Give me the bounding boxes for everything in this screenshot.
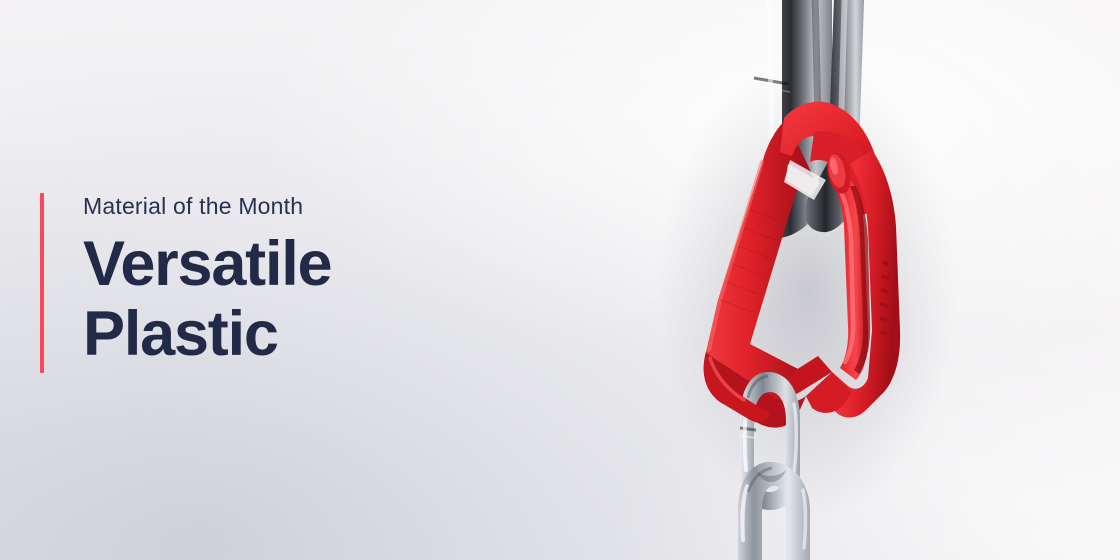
material-of-the-month-banner: Material of the Month Versatile Plastic	[0, 0, 1120, 560]
carabiner-photo	[600, 0, 1120, 560]
page-title: Versatile Plastic	[83, 229, 583, 369]
headline-text-block: Material of the Month Versatile Plastic	[40, 191, 580, 374]
red-accent-bar	[40, 193, 44, 373]
headline-line-2: Plastic	[83, 299, 583, 369]
eyebrow-label: Material of the Month	[83, 191, 583, 221]
headline-line-1: Versatile	[83, 229, 583, 299]
text-inner: Material of the Month Versatile Plastic	[83, 191, 583, 369]
